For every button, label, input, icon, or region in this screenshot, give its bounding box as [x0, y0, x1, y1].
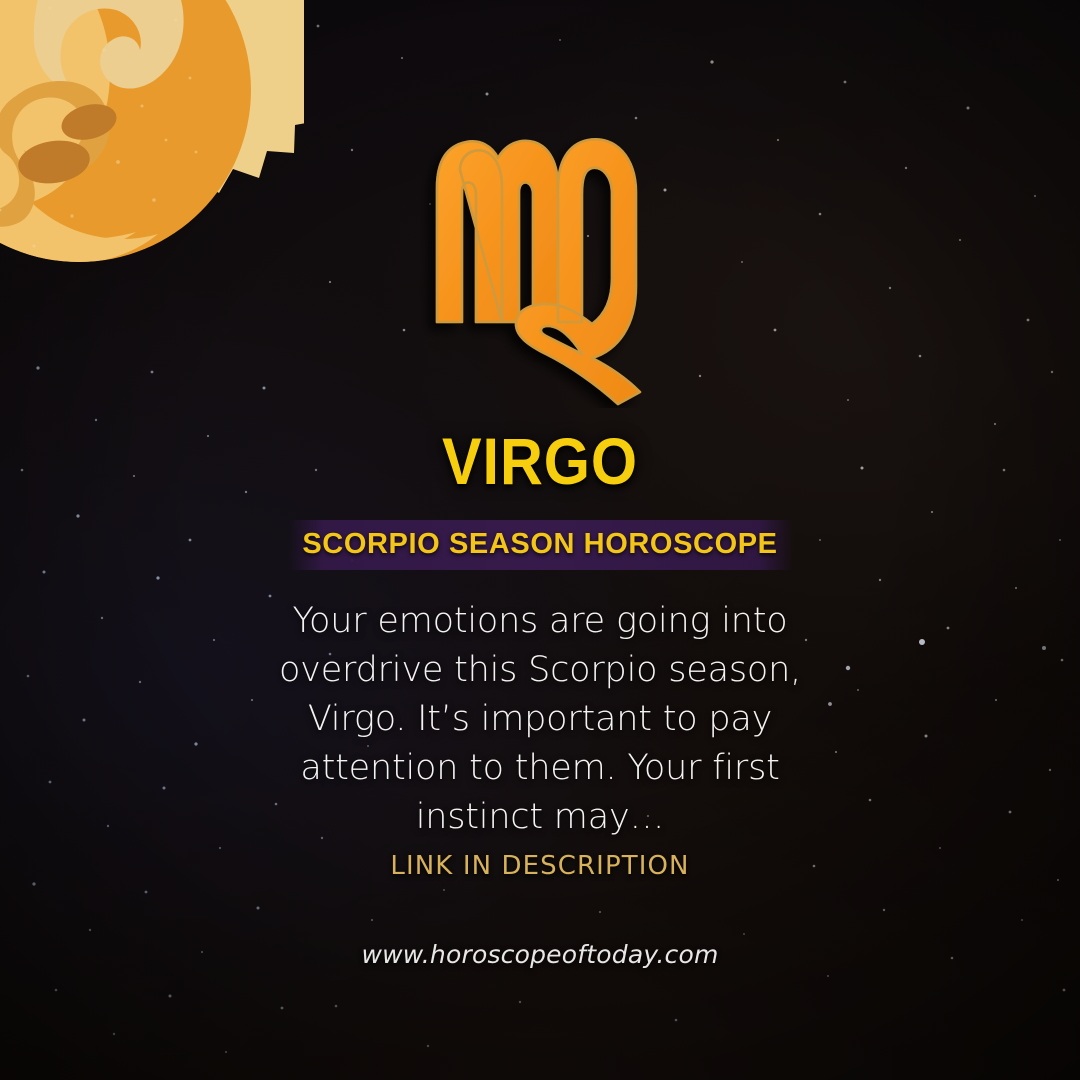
website-url: www.horoscopeoftoday.com [0, 940, 1080, 970]
virgo-glyph-icon [0, 128, 1080, 418]
horoscope-paragraph: Your emotions are going into overdrive t… [270, 597, 810, 842]
horoscope-poster: VIRGO SCORPIO SEASON HOROSCOPE Your emot… [0, 0, 1080, 1080]
page-title: VIRGO [54, 428, 1026, 494]
subtitle: SCORPIO SEASON HOROSCOPE [0, 527, 1080, 561]
link-in-description-label: LINK IN DESCRIPTION [0, 851, 1080, 881]
